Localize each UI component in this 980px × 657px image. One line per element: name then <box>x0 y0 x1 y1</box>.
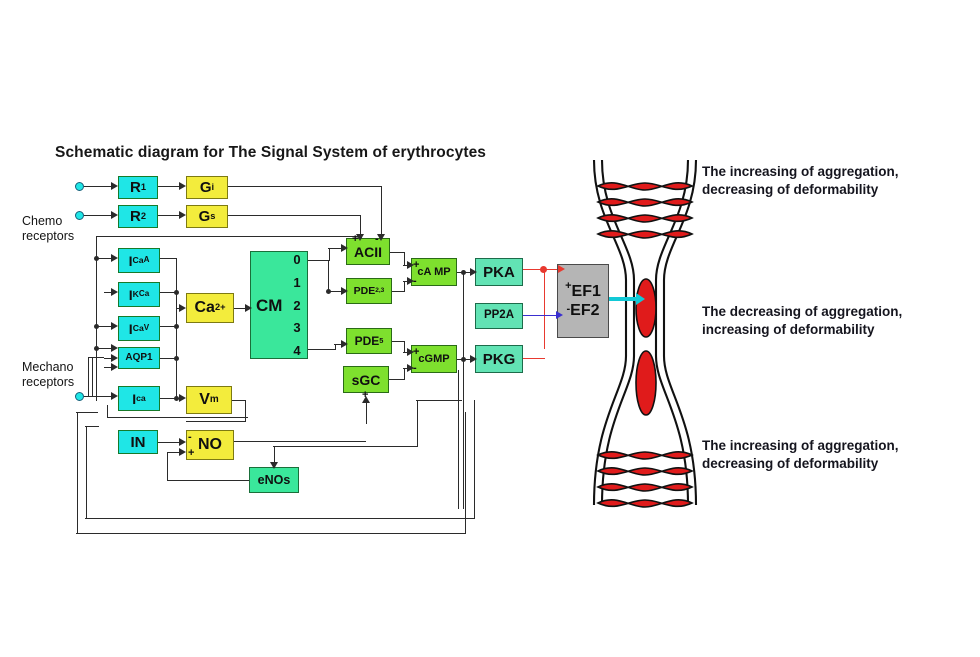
outcome-text-middle: The decreasing of aggregation, increasin… <box>702 303 902 339</box>
node-vm-sub: m <box>210 395 219 405</box>
wire-pde23-up <box>404 281 405 292</box>
cm-state-numbers: 0 1 2 3 4 <box>288 252 306 358</box>
arrowhead-ica-in <box>111 392 118 400</box>
node-vm-text: V <box>199 392 210 408</box>
wire-top-bracket <box>96 236 362 237</box>
node-ica-v-sub: Ca <box>133 324 144 333</box>
rbc-disc-3 <box>598 215 692 222</box>
mechano-receptor-dot <box>75 392 84 401</box>
wire-cm-mid-down <box>328 260 329 292</box>
rbc-elongated-upper <box>629 278 663 338</box>
feedback-loop1-right <box>474 400 475 519</box>
rbc-elongated-upper-body <box>636 279 656 337</box>
arrowhead-pde23 <box>341 287 348 295</box>
node-ca2-text: Ca <box>194 300 214 316</box>
rbc-elongated-lower <box>629 350 663 416</box>
node-gi-sub: i <box>212 183 215 192</box>
node-pde5-text: PDE <box>355 335 380 347</box>
node-ica-a[interactable]: ICaA <box>118 248 160 273</box>
feedback-loop1-bottom <box>85 518 475 519</box>
junction-aqp1 <box>94 346 99 351</box>
node-r2-text: R <box>130 209 141 224</box>
wire-pka-red-down <box>544 269 545 349</box>
node-pka[interactable]: PKA <box>475 258 523 286</box>
cm-number-3: 3 <box>293 320 300 335</box>
junction-icav-out <box>174 324 179 329</box>
rbc-rouleaux-bottom <box>595 447 695 519</box>
rbc-disc-1 <box>598 183 692 190</box>
arrowhead-aqp1-b <box>111 354 118 362</box>
sgc-plus-sign: + <box>362 390 368 401</box>
feedback-loop2-left <box>77 412 78 534</box>
wire-cm4-right <box>308 349 336 350</box>
wire-mechano-riser-top <box>88 357 104 358</box>
node-aqp1-text: AQP1 <box>125 353 152 363</box>
node-ica-v[interactable]: ICaV <box>118 316 160 341</box>
lower-box-top <box>107 417 248 418</box>
feedback-loop2-bottom <box>76 533 466 534</box>
wire-dot1-r1 <box>84 186 114 187</box>
arrowhead-r1 <box>111 182 118 190</box>
arrowhead-cm <box>245 304 252 312</box>
junction-red-ef1 <box>540 266 547 273</box>
outcome-bottom-line1: The increasing of aggregation, <box>702 437 899 455</box>
arrowhead-vm <box>179 394 186 402</box>
junction-ica-a <box>94 256 99 261</box>
node-pka-text: PKA <box>483 265 515 280</box>
node-ef2-text: EF2 <box>570 303 599 319</box>
camp-minus-sign: - <box>413 276 417 287</box>
node-ca2-sup: 2+ <box>215 303 226 312</box>
node-ica-a-sub: Ca <box>132 256 143 265</box>
junction-camp-bus <box>461 270 466 275</box>
junction-aqp1-out <box>174 356 179 361</box>
junction-cgmp-bus <box>461 357 466 362</box>
arrowhead-aqp1-c <box>111 363 118 371</box>
arrowhead-pka <box>470 268 477 276</box>
cgmp-plus-sign: + <box>413 347 419 358</box>
node-pkg[interactable]: PKG <box>475 345 523 373</box>
wire-vm-back <box>186 421 245 422</box>
arrowhead-gi <box>179 182 186 190</box>
node-ica-sub: ca <box>136 394 146 403</box>
rbc-disc-8 <box>598 500 692 507</box>
node-acii-text: ACII <box>354 245 382 259</box>
arrowhead-ca2 <box>179 304 186 312</box>
node-in[interactable]: IN <box>118 430 158 454</box>
node-ik-ca-sup: Ca <box>139 290 149 298</box>
feedback-loop1-join <box>85 426 99 427</box>
node-r2[interactable]: R2 <box>118 205 158 228</box>
diagram-canvas: Schematic diagram for The Signal System … <box>0 0 980 657</box>
outcome-bottom-line2: decreasing of deformability <box>702 455 899 473</box>
arrowhead-ica-v <box>111 322 118 330</box>
effector-arrow-head <box>636 293 645 305</box>
node-enos-text: eNOs <box>258 474 291 487</box>
node-ca2plus[interactable]: Ca2+ <box>186 293 234 323</box>
node-pp2a-text: PP2A <box>484 310 514 322</box>
rbc-disc-7 <box>598 484 692 491</box>
wire-camp-cgmp-bus <box>463 272 464 360</box>
node-ik-ca[interactable]: IKCa <box>118 282 160 307</box>
wire-no-right <box>234 441 366 442</box>
outcome-text-top: The increasing of aggregation, decreasin… <box>702 163 899 199</box>
wire-pde5-out <box>392 341 404 342</box>
node-r2-sub: 2 <box>141 212 146 221</box>
wire-pde23-out <box>392 291 404 292</box>
arrowhead-no-plus <box>179 448 186 456</box>
node-ica[interactable]: Ica <box>118 386 160 411</box>
junction-ica-v <box>94 324 99 329</box>
arrowhead-pde5 <box>341 340 348 348</box>
node-ica-v-sup: V <box>144 324 149 332</box>
mechano-label-line1: Mechano <box>22 360 74 375</box>
node-pp2a[interactable]: PP2A <box>475 303 523 329</box>
cgmp-minus-sign: - <box>413 363 417 374</box>
lower-box-left <box>107 405 108 418</box>
ef2-minus-sign: - <box>566 304 570 315</box>
wire-to-enos-riser <box>417 400 418 447</box>
mechano-label-line2: receptors <box>22 375 74 390</box>
acii-minus-sign: - <box>375 234 379 245</box>
cm-number-1: 1 <box>293 275 300 290</box>
wire-sgc-up <box>404 368 405 380</box>
arrowhead-ef1 <box>558 265 565 273</box>
chemo-label-line2: receptors <box>22 229 74 244</box>
node-r1[interactable]: R1 <box>118 176 158 199</box>
arrowhead-ica-a <box>111 254 118 262</box>
rbc-disc-2 <box>598 199 692 206</box>
no-plus-sign: + <box>188 448 194 459</box>
wire-channel-bus <box>96 236 97 401</box>
outcome-middle-line2: increasing of deformability <box>702 321 902 339</box>
arrowhead-aqp1-a <box>111 344 118 352</box>
outcome-text-bottom: The increasing of aggregation, decreasin… <box>702 437 899 473</box>
node-aqp1[interactable]: AQP1 <box>118 347 160 369</box>
node-pde5-sub: 5 <box>379 337 383 344</box>
wire-vm-down <box>245 400 246 422</box>
node-pde23-sub: 2,3 <box>375 288 384 295</box>
node-enos[interactable]: eNOs <box>249 467 299 493</box>
arrowhead-pkg <box>470 355 477 363</box>
node-gi-text: G <box>200 180 212 195</box>
junction-ik-out <box>174 290 179 295</box>
wire-pkg-red <box>523 358 545 359</box>
arrowhead-no <box>179 438 186 446</box>
node-camp-text: cA MP <box>417 267 450 278</box>
arrowhead-r2 <box>111 211 118 219</box>
node-gs-text: G <box>199 209 211 224</box>
cm-number-0: 0 <box>293 252 300 267</box>
feedback-loop1-left <box>86 426 87 519</box>
arrowhead-acii-left <box>341 244 348 252</box>
rbc-rouleaux-top <box>595 178 695 250</box>
chemo-receptor-dot-1 <box>75 182 84 191</box>
arrowhead-ik-ca <box>111 288 118 296</box>
wire-mechano-riser-1 <box>88 357 89 397</box>
chemo-receptor-dot-2 <box>75 211 84 220</box>
no-minus-sign: - <box>188 432 192 443</box>
arrowhead-enos <box>270 462 278 469</box>
wire-sgc-out <box>389 379 404 380</box>
outcome-top-line2: decreasing of deformability <box>702 181 899 199</box>
rbc-disc-6 <box>598 468 692 475</box>
junction-ica-out <box>174 396 179 401</box>
wire-ica-a-out <box>160 258 177 259</box>
wire-dot2-r2 <box>84 215 114 216</box>
wire-to-enos-top <box>416 400 462 401</box>
ef2-row: - EF2 <box>566 303 599 319</box>
mechano-receptors-label: Mechano receptors <box>22 360 74 390</box>
wire-mechano-riser-2 <box>92 357 93 397</box>
node-pde5[interactable]: PDE5 <box>346 328 392 354</box>
node-in-text: IN <box>131 435 146 450</box>
node-no-text: NO <box>198 437 222 453</box>
ef1-row: + EF1 <box>565 284 601 300</box>
node-ef1-text: EF1 <box>572 284 601 300</box>
wire-to-enos-horiz <box>273 446 417 447</box>
effector-arrow-line <box>609 297 639 301</box>
arrowhead-ef2 <box>556 311 563 319</box>
rbc-disc-5 <box>598 452 692 459</box>
node-r1-sub: 1 <box>141 183 146 192</box>
cm-number-4: 4 <box>293 343 300 358</box>
feedback-loop2-join <box>76 412 98 413</box>
cm-number-2: 2 <box>293 298 300 313</box>
node-pde23[interactable]: PDE2,3 <box>346 278 392 304</box>
node-gi[interactable]: Gi <box>186 176 228 199</box>
arrowhead-gs <box>179 211 186 219</box>
rbc-elongated-lower-body <box>636 351 656 415</box>
node-effector-box[interactable]: + EF1 - EF2 <box>557 264 609 338</box>
feedback-loop2-right <box>465 412 466 534</box>
wire-acii-out <box>390 252 404 253</box>
rbc-disc-4 <box>598 231 692 238</box>
wire-bus-down-feedback-2 <box>458 370 459 509</box>
wire-gi-down <box>381 186 382 238</box>
page-title: Schematic diagram for The Signal System … <box>55 144 486 162</box>
node-sgc-text: sGC <box>352 373 381 387</box>
junction-cm-pde23 <box>326 289 331 294</box>
node-cgmp-text: cGMP <box>418 354 449 365</box>
wire-enos-riser <box>167 452 168 481</box>
node-vm[interactable]: Vm <box>186 386 232 414</box>
node-pde23-text: PDE <box>354 286 376 297</box>
node-cm-text: CM <box>256 297 282 314</box>
node-pkg-text: PKG <box>483 352 516 367</box>
wire-gi-right <box>228 186 382 187</box>
outcome-top-line1: The increasing of aggregation, <box>702 163 899 181</box>
node-gs[interactable]: Gs <box>186 205 228 228</box>
wire-enos-back <box>167 480 249 481</box>
wire-gs-right <box>228 215 361 216</box>
ef1-plus-sign: + <box>565 281 571 292</box>
acii-plus-sign: + <box>352 234 358 245</box>
camp-plus-sign: + <box>413 260 419 271</box>
node-ica-a-sup: A <box>144 256 150 264</box>
wire-acii-down <box>404 252 405 266</box>
chemo-receptors-label: Chemo receptors <box>22 214 74 244</box>
outcome-middle-line1: The decreasing of aggregation, <box>702 303 902 321</box>
node-gs-sub: s <box>210 212 215 221</box>
wire-channel-out-bus <box>176 258 177 399</box>
node-r1-text: R <box>130 180 141 195</box>
chemo-label-line1: Chemo <box>22 214 74 229</box>
